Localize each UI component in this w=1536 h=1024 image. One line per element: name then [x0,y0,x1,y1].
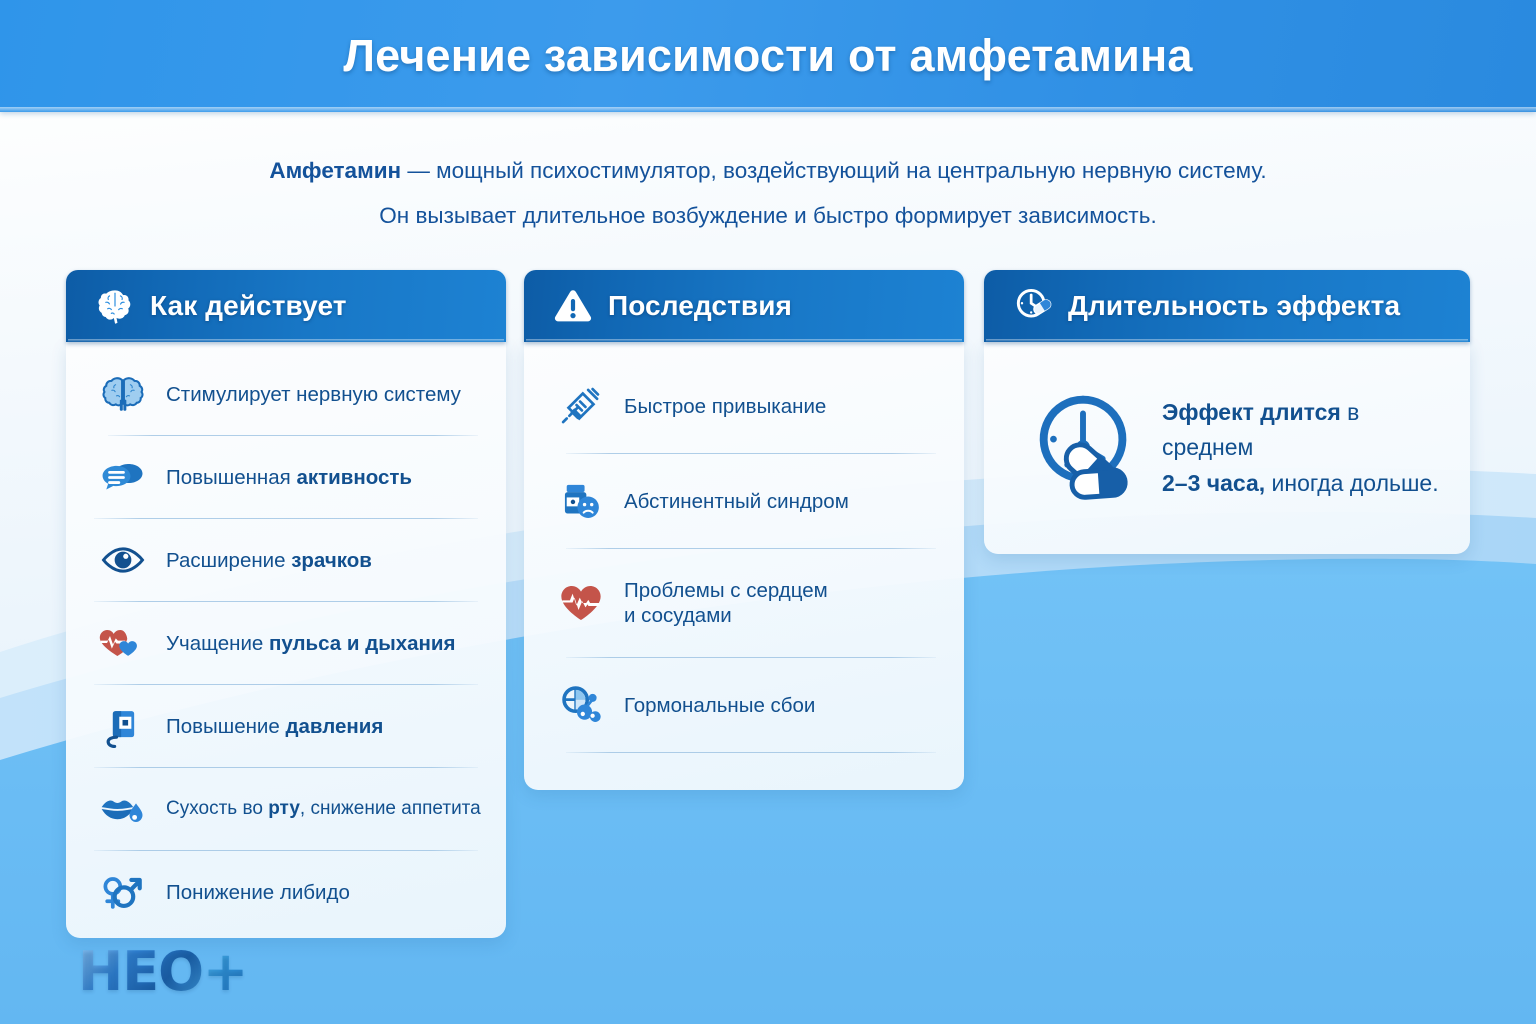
intro-line-1-rest: — мощный психостимулятор, воздействующий… [401,158,1267,183]
list-item-label: Учащение пульса и дыхания [166,631,455,656]
page-title: Лечение зависимости от амфетамина [0,0,1536,112]
divider [94,684,478,685]
list-item: Учащение пульса и дыхания [66,613,506,673]
page-header-bar: Лечение зависимости от амфетамина [0,0,1536,112]
heartbeat-hearts-icon [94,614,152,672]
divider [566,453,936,454]
divider [94,601,478,602]
card-how-it-works-body: Стимулирует нервную систему [66,342,506,938]
card-effect-duration: Длительность эффекта [984,270,1470,554]
list-item: Сухость во рту, снижение аппетита [66,779,506,839]
card-how-it-works-header: Как действует [66,270,506,342]
divider [94,850,478,851]
card-consequences-body: Быстрое привыкание [524,342,964,790]
blood-pressure-monitor-icon [94,697,152,755]
cards-row: Как действует [0,270,1536,950]
pill-bottle-sad-face-icon [552,472,610,530]
intro-block: Амфетамин — мощный психостимулятор, возд… [0,148,1536,238]
divider [94,518,478,519]
infographic-root: Лечение зависимости от амфетамина Амфета… [0,0,1536,1024]
effect-duration-text: Эффект длится в среднем 2–3 часа, иногда… [1162,395,1440,502]
logo-plus-icon: + [203,940,247,1003]
divider [566,752,936,753]
hormone-molecule-icon [552,676,610,734]
divider [566,548,936,549]
eye-icon [94,531,152,589]
brain-icon [92,283,138,329]
list-item: Быстрое привыкание [524,370,964,442]
lips-droplet-icon [94,780,152,838]
intro-line-2: Он вызывает длительное возбуждение и быс… [0,193,1536,238]
card-effect-duration-title: Длительность эффекта [1068,290,1400,322]
card-consequences-title: Последствия [608,290,792,322]
list-item-label: Понижение либидо [166,880,350,905]
warning-triangle-icon [550,283,596,329]
syringe-icon [552,377,610,435]
logo-text: НЕО [78,940,203,1003]
list-item-label: Расширение зрачков [166,548,372,573]
heart-ecg-icon [552,574,610,632]
list-item: Повышение давления [66,696,506,756]
card-how-it-works-title: Как действует [150,290,347,322]
card-how-it-works: Как действует [66,270,506,938]
list-item: Понижение либидо [66,862,506,922]
list-item: Абстинентный синдром [524,465,964,537]
divider [566,657,936,658]
brand-logo[interactable]: НЕО+ [78,940,247,1003]
brain-icon [94,365,152,423]
card-effect-duration-body: Эффект длится в среднем 2–3 часа, иногда… [984,342,1470,554]
divider [108,435,478,436]
intro-line-1: Амфетамин — мощный психостимулятор, возд… [0,148,1536,193]
list-item-label: Повышение давления [166,714,383,739]
card-effect-duration-header: Длительность эффекта [984,270,1470,342]
card-consequences: Последствия [524,270,964,790]
list-item-label: Быстрое привыкание [624,394,826,419]
clock-pills-large-icon [1018,382,1150,514]
list-item-label: Стимулирует нервную систему [166,382,461,407]
divider [94,767,478,768]
list-item-label: Абстинентный синдром [624,489,849,514]
speech-bubbles-icon [94,448,152,506]
gender-symbols-icon [94,863,152,921]
list-item-label: Повышенная активность [166,465,412,490]
intro-bold-term: Амфетамин [269,158,401,183]
list-item-label: Гормональные сбои [624,693,815,718]
list-item: Расширение зрачков [66,530,506,590]
list-item: Стимулирует нервную систему [66,364,506,424]
list-item-label: Проблемы с сердцеми сосудами [624,578,828,628]
list-item: Гормональные сбои [524,669,964,741]
card-consequences-header: Последствия [524,270,964,342]
list-item-label: Сухость во рту, снижение аппетита [166,797,481,820]
list-item: Повышенная активность [66,447,506,507]
list-item: Проблемы с сердцеми сосудами [524,560,964,646]
clock-pills-icon [1010,283,1056,329]
